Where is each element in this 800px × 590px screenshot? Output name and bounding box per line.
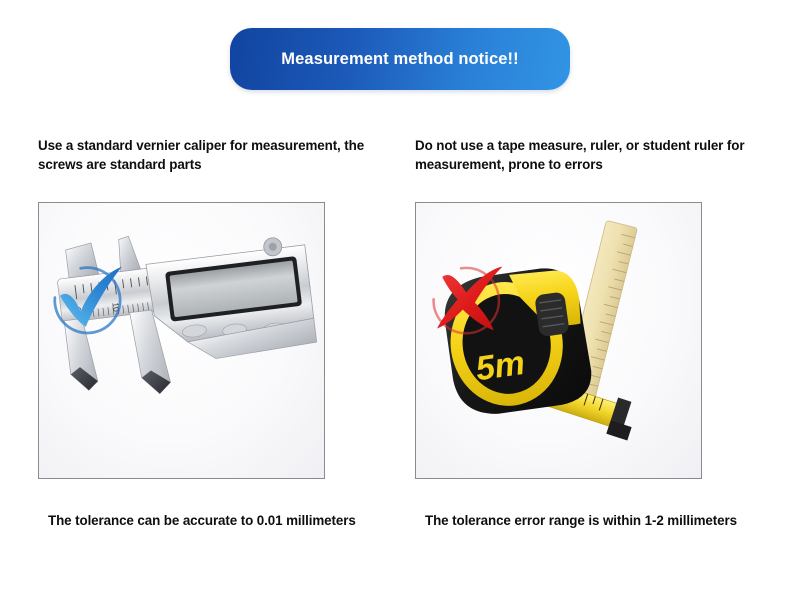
wrong-method-headline: Do not use a tape measure, ruler, or stu… — [415, 136, 773, 175]
correct-method-headline: Use a standard vernier caliper for measu… — [38, 136, 396, 175]
notice-banner-title: Measurement method notice!! — [281, 50, 518, 69]
notice-banner: Measurement method notice!! — [230, 28, 570, 90]
tape-capacity-label: 5m — [473, 344, 527, 388]
notice-banner-container: Measurement method notice!! — [0, 28, 800, 90]
correct-method-caption: The tolerance can be accurate to 0.01 mi… — [48, 513, 356, 528]
caliper-scale-label-10: 10 — [110, 302, 121, 313]
digital-vernier-caliper-photo: 0 10 20 — [39, 203, 324, 478]
wrong-method-column: Do not use a tape measure, ruler, or stu… — [415, 136, 775, 479]
tape-measure-photo-frame: 5m — [415, 202, 702, 479]
wrong-method-caption: The tolerance error range is within 1-2 … — [425, 513, 737, 528]
tape-measure-and-ruler-photo: 5m — [416, 203, 701, 478]
correct-method-column: Use a standard vernier caliper for measu… — [38, 136, 398, 479]
tape-measure-case: 5m — [439, 263, 595, 419]
caliper-photo-frame: 0 10 20 — [38, 202, 325, 479]
